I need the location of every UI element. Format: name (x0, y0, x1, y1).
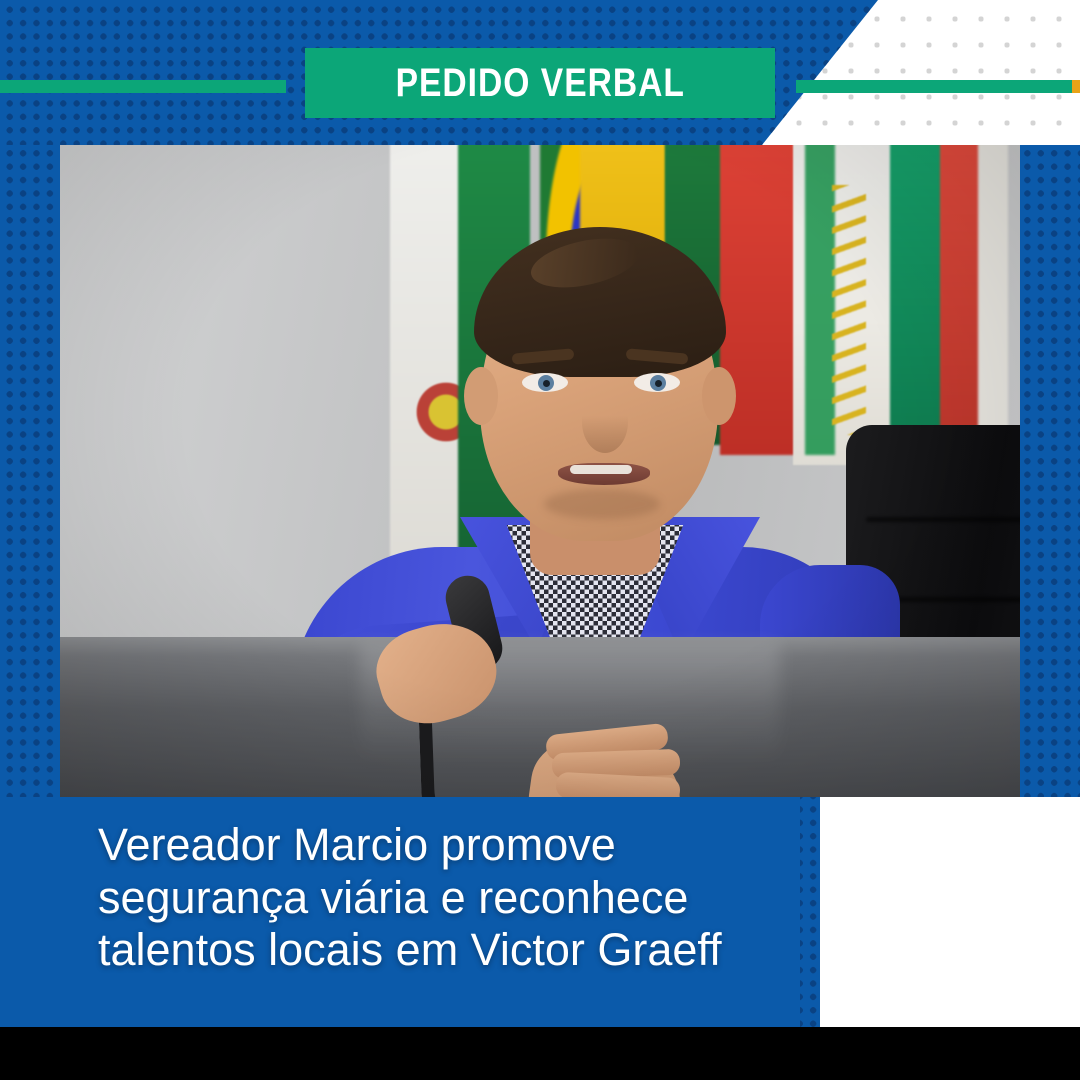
caption-line-2: segurança viária e reconhece (98, 872, 788, 925)
person-teeth (570, 465, 632, 474)
person-pupil-left (543, 380, 550, 387)
header-rule-right (796, 80, 1072, 93)
title-banner: PEDIDO VERBAL (305, 48, 775, 118)
caption-line-1: Vereador Marcio promove (98, 819, 788, 872)
header-rule-right-accent (1072, 80, 1080, 93)
person-nose (582, 391, 628, 453)
bottom-strip (0, 1027, 1080, 1080)
person-ear-left (464, 367, 498, 425)
social-media-card: PEDIDO VERBAL (0, 0, 1080, 1080)
photo-councilman-speaking (60, 145, 1020, 797)
caption-line-3: talentos locais em Victor Graeff (98, 924, 788, 977)
header-rule-left (0, 80, 286, 93)
person-chin-shadow (544, 489, 660, 519)
flag-rs-green-band (805, 145, 835, 455)
flag-rs-gold-detail (832, 185, 866, 435)
logo-container: VICTOR GRAEFF (820, 797, 1080, 1027)
title-banner-label: PEDIDO VERBAL (395, 61, 684, 106)
person-pupil-right (655, 380, 662, 387)
caption-headline: Vereador Marcio promove segurança viária… (98, 819, 788, 977)
chair-seam (866, 517, 1020, 522)
flag-white-right (978, 145, 1008, 465)
person-ear-right (702, 367, 736, 425)
caption-bar: Vereador Marcio promove segurança viária… (0, 797, 800, 1027)
